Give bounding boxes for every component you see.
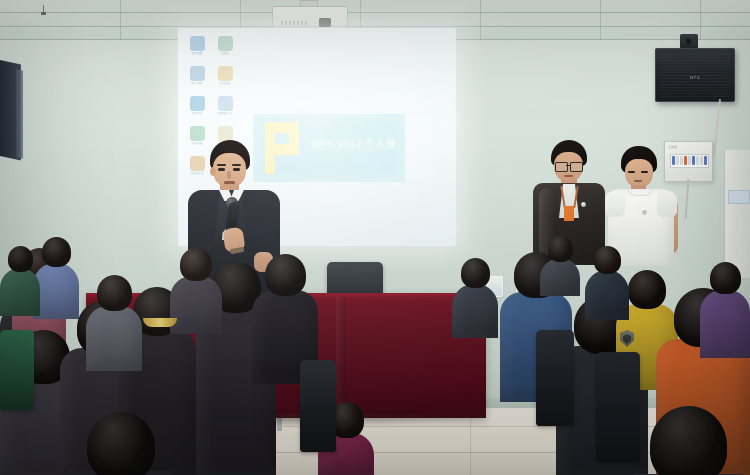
audience-chairs xyxy=(0,0,750,475)
chair-audience-right-1 xyxy=(536,330,574,426)
necklace xyxy=(143,318,177,327)
chair-audience-left-1 xyxy=(0,330,34,410)
presentation-photo: 我的电脑回收站网上邻居控制面板腾讯QQ搜狗输入法金山毒霸WPS 文字谷歌浏览器搜… xyxy=(0,0,750,475)
chair-audience-right-2 xyxy=(596,352,640,462)
chair-audience-mid xyxy=(300,360,336,452)
